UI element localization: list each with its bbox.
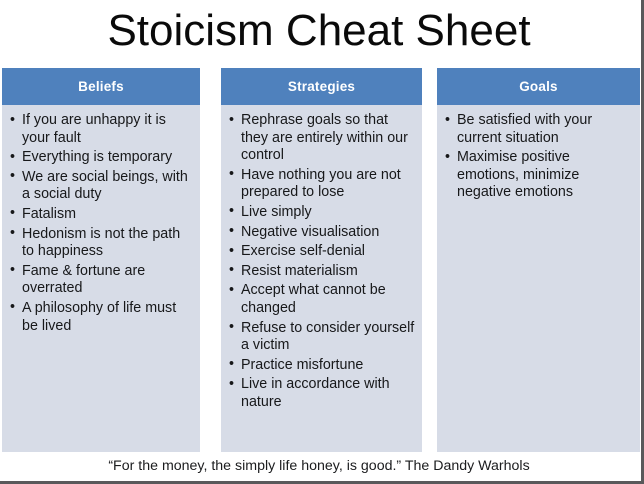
list-item: Rephrase goals so that they are entirely… [227, 112, 417, 165]
list-item: We are social beings, with a social duty [8, 169, 195, 204]
list-item: Live in accordance with nature [227, 376, 417, 411]
list-item: Practice misfortune [227, 357, 417, 375]
column-header-goals: Goals [437, 68, 640, 105]
column-beliefs: Beliefs If you are unhappy it is your fa… [2, 68, 200, 452]
list-item: Live simply [227, 204, 417, 222]
page-title: Stoicism Cheat Sheet [0, 2, 638, 60]
list-item: Hedonism is not the path to happiness [8, 226, 195, 261]
bullet-list-goals: Be satisfied with your current situation… [443, 112, 635, 202]
list-item: Exercise self-denial [227, 243, 417, 261]
list-item: If you are unhappy it is your fault [8, 112, 195, 147]
list-item: Resist materialism [227, 263, 417, 281]
column-header-beliefs: Beliefs [2, 68, 200, 105]
list-item: Refuse to consider yourself a victim [227, 320, 417, 355]
column-body-strategies: Rephrase goals so that they are entirely… [221, 105, 422, 452]
list-item: Fatalism [8, 206, 195, 224]
list-item: Fame & fortune are overrated [8, 263, 195, 298]
list-item: Be satisfied with your current situation [443, 112, 635, 147]
list-item: Everything is temporary [8, 149, 195, 167]
list-item: Accept what cannot be changed [227, 282, 417, 317]
column-header-strategies: Strategies [221, 68, 422, 105]
slide-canvas: Stoicism Cheat Sheet Beliefs If you are … [0, 0, 644, 484]
column-strategies: Strategies Rephrase goals so that they a… [221, 68, 422, 452]
list-item: Negative visualisation [227, 224, 417, 242]
list-item: A philosophy of life must be lived [8, 300, 195, 335]
column-body-goals: Be satisfied with your current situation… [437, 105, 640, 452]
column-goals: Goals Be satisfied with your current sit… [437, 68, 640, 452]
column-body-beliefs: If you are unhappy it is your fault Ever… [2, 105, 200, 452]
bullet-list-strategies: Rephrase goals so that they are entirely… [227, 112, 417, 412]
list-item: Maximise positive emotions, minimize neg… [443, 149, 635, 202]
footer-quote: “For the money, the simply life honey, i… [0, 455, 638, 477]
bullet-list-beliefs: If you are unhappy it is your fault Ever… [8, 112, 195, 335]
list-item: Have nothing you are not prepared to los… [227, 167, 417, 202]
